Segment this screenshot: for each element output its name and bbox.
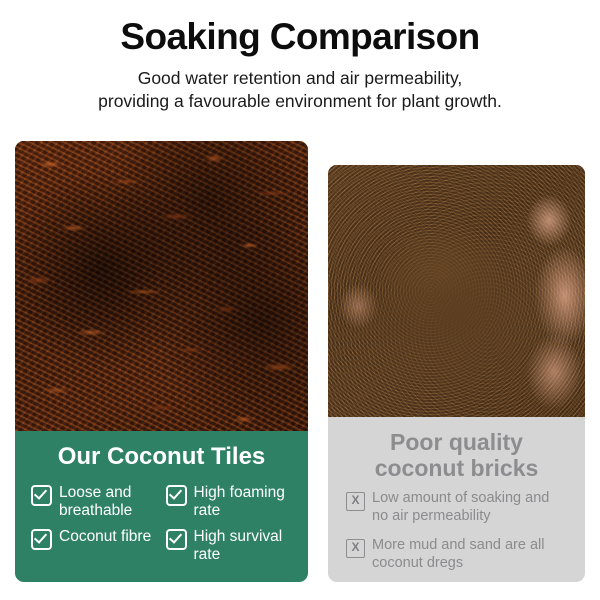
list-item: Coconut fibre <box>31 528 158 563</box>
comparison-card-bad: Poor quality coconut bricks X Low amount… <box>328 165 585 582</box>
good-feature-label: High survival rate <box>194 528 293 563</box>
bad-panel-title: Poor quality coconut bricks <box>342 430 571 482</box>
good-panel: Our Coconut Tiles Loose and breathable H… <box>15 431 308 582</box>
good-feature-list: Loose and breathable High foaming rate C… <box>29 484 294 564</box>
subtitle-line-2: providing a favourable environment for p… <box>40 90 560 113</box>
checkbox-checked-icon <box>166 529 187 550</box>
list-item: Loose and breathable <box>31 484 158 519</box>
bad-feature-label: More mud and sand are all coconut dregs <box>372 537 567 572</box>
header: Soaking Comparison Good water retention … <box>0 0 600 113</box>
x-box-icon: X <box>346 492 365 511</box>
checkbox-checked-icon <box>31 485 52 506</box>
subtitle: Good water retention and air permeabilit… <box>0 67 600 114</box>
list-item: High survival rate <box>166 528 293 563</box>
good-feature-label: Loose and breathable <box>59 484 158 519</box>
checkbox-checked-icon <box>31 529 52 550</box>
bad-panel-title-line-1: Poor quality <box>342 430 571 456</box>
comparison-card-good: Our Coconut Tiles Loose and breathable H… <box>15 141 308 582</box>
good-panel-title: Our Coconut Tiles <box>29 444 294 471</box>
bad-feature-list: X Low amount of soaking and no air perme… <box>342 490 571 572</box>
x-box-icon: X <box>346 539 365 558</box>
list-item: High foaming rate <box>166 484 293 519</box>
coconut-dust-photo <box>328 165 585 417</box>
checkbox-checked-icon <box>166 485 187 506</box>
comparison-section: Our Coconut Tiles Loose and breathable H… <box>0 141 600 586</box>
list-item: X More mud and sand are all coconut dreg… <box>346 537 567 572</box>
bad-feature-label: Low amount of soaking and no air permeab… <box>372 490 567 525</box>
good-feature-label: High foaming rate <box>194 484 293 519</box>
list-item: X Low amount of soaking and no air perme… <box>346 490 567 525</box>
subtitle-line-1: Good water retention and air permeabilit… <box>40 67 560 90</box>
good-feature-label: Coconut fibre <box>59 528 151 546</box>
page-title: Soaking Comparison <box>0 18 600 57</box>
bad-panel: Poor quality coconut bricks X Low amount… <box>328 417 585 582</box>
bad-panel-title-line-2: coconut bricks <box>342 456 571 482</box>
coconut-coir-photo <box>15 141 308 431</box>
